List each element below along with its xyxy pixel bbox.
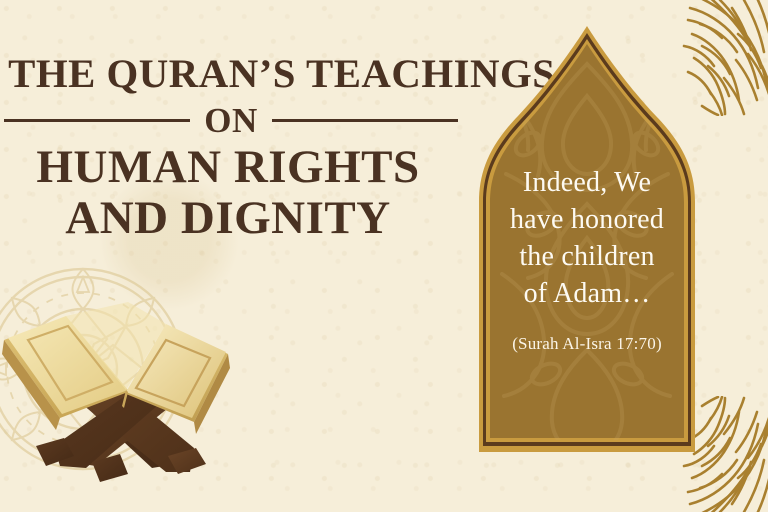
circular-medallion-ornament-icon bbox=[0, 262, 191, 482]
headline-block: THE QURAN’S TEACHINGS ON HUMAN RIGHTS AN… bbox=[0, 54, 468, 242]
page-title-line-2: HUMAN RIGHTS bbox=[0, 144, 468, 191]
headline-connector-row: ON bbox=[0, 103, 468, 138]
divider-rule-left bbox=[4, 119, 190, 122]
poster-canvas: THE QURAN’S TEACHINGS ON HUMAN RIGHTS AN… bbox=[0, 0, 768, 512]
page-title-line-1: THE QURAN’S TEACHINGS bbox=[0, 54, 477, 94]
headline-connector-word: ON bbox=[204, 103, 258, 138]
page-title-line-3: AND DIGNITY bbox=[0, 195, 468, 242]
quote-arch-panel: Indeed, We have honored the children of … bbox=[466, 24, 708, 456]
quran-book-illustration-icon bbox=[0, 296, 235, 491]
quote-line-2: have honored bbox=[484, 201, 690, 238]
quote-line-4: of Adam… bbox=[484, 275, 690, 312]
quote-line-3: the children bbox=[484, 238, 690, 275]
quote-content: Indeed, We have honored the children of … bbox=[484, 164, 690, 354]
quote-line-1: Indeed, We bbox=[484, 164, 690, 201]
divider-rule-right bbox=[272, 119, 458, 122]
quote-citation: (Surah Al-Isra 17:70) bbox=[484, 334, 690, 354]
